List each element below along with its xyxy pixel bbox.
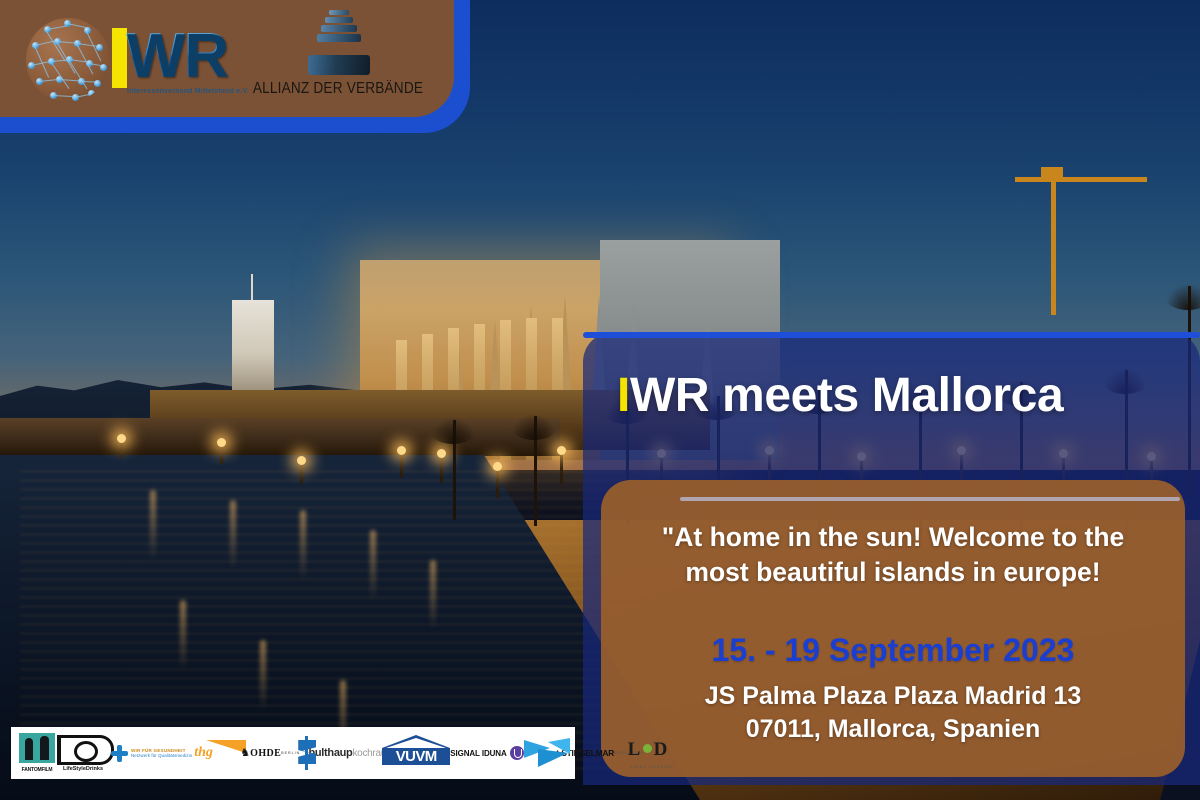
- street-lamp: [300, 462, 303, 484]
- allianz-logo-text: ALLIANZ DER VERBÄNDE: [250, 80, 426, 98]
- reflection-streak: [260, 640, 266, 710]
- reflection-streak: [150, 490, 156, 560]
- iwr-logo[interactable]: WR Interessenverband Mittelstand e.V.: [26, 14, 206, 106]
- sponsor-bulthaup[interactable]: bulthaup kochraum: [320, 731, 382, 775]
- vuvm-label: VUVM: [382, 748, 450, 765]
- page-title: IWR meets Mallorca: [583, 368, 1200, 423]
- sponsor-vuvm[interactable]: VUVM: [382, 735, 450, 771]
- event-details-card: "At home in the sun! Welcome to the most…: [601, 480, 1185, 777]
- reflection-streak: [370, 530, 376, 600]
- event-venue: JS Palma Plaza Plaza Madrid 13 07011, Ma…: [625, 680, 1161, 745]
- ld-letter-left: L: [628, 740, 641, 759]
- tagline-line-1: "At home in the sun! Welcome to the: [625, 520, 1161, 555]
- sponsor-s-mark[interactable]: [294, 736, 320, 770]
- street-lamp: [400, 452, 403, 478]
- ld-letter-right: D: [654, 740, 668, 759]
- street-lamp: [496, 468, 499, 498]
- reflection-streak: [430, 560, 436, 630]
- signal-iduna-globe-icon: [510, 746, 524, 760]
- headline-text: WR meets Mallorca: [630, 369, 1063, 422]
- tagline-line-2: most beautiful islands in europe!: [625, 555, 1161, 590]
- reflection-streak: [300, 510, 306, 580]
- street-lamp: [220, 444, 223, 464]
- venue-line-2: 07011, Mallorca, Spanien: [625, 713, 1161, 746]
- allianz-der-verbaende-logo[interactable]: ALLIANZ DER VERBÄNDE: [238, 10, 438, 110]
- network-sphere-icon: [26, 18, 110, 102]
- venue-line-1: JS Palma Plaza Plaza Madrid 13: [625, 680, 1161, 713]
- blue-bird-wing-lower: [538, 749, 568, 767]
- iwr-wordmark: WR: [126, 20, 227, 91]
- s-zigzag-body: [298, 740, 316, 764]
- thg-label: thg: [194, 745, 213, 761]
- header-brown-panel: WR Interessenverband Mittelstand e.V. AL…: [0, 0, 454, 117]
- embankment: [0, 418, 560, 456]
- fantomfilm-label: FANTOMFILM: [19, 767, 55, 773]
- wfg-sublabel: Netzwerk für Qualitätsmedizin: [131, 753, 192, 758]
- blue-cross-icon: [111, 745, 128, 762]
- signal-iduna-label: SIGNAL IDUNA: [450, 749, 506, 758]
- street-lamp: [120, 440, 123, 458]
- header-bar: WR Interessenverband Mittelstand e.V. AL…: [0, 0, 470, 133]
- hero-panel-top-rule: [583, 332, 1200, 338]
- ohde-horse-icon: ♞: [240, 748, 250, 759]
- iwr-subtitle: Interessenverband Mittelstand e.V.: [127, 88, 249, 95]
- ld-catering-logo: [643, 744, 652, 753]
- card-top-rule: [680, 497, 1180, 501]
- lifestyledrinks-label: LifeStyleDrinks: [55, 766, 111, 772]
- event-date: 15. - 19 September 2023: [625, 632, 1161, 669]
- reflection-streak: [180, 600, 186, 670]
- headline-accent-letter: I: [617, 369, 630, 422]
- fantomfilm-logo: [19, 733, 55, 763]
- ohde-label: OHDE: [250, 748, 281, 759]
- stacked-tower-icon: [306, 10, 372, 78]
- sponsor-stiegelmar[interactable]: ⛰ STIEGELMAR BURGENLAND: [572, 731, 626, 775]
- palm-tree: [510, 416, 558, 526]
- event-tagline: "At home in the sun! Welcome to the most…: [625, 520, 1161, 590]
- ld-sublabel: EVENT CATERING: [626, 765, 678, 769]
- sponsor-logo-strip: FANTOMFILM LifeStyleDrinks WIR FÜR GESUN…: [11, 727, 575, 779]
- sponsor-wir-fuer-gesundheit[interactable]: WIR FÜR GESUNDHEIT Netzwerk für Qualität…: [111, 731, 192, 775]
- sponsor-ohde[interactable]: ♞ OHDE BERLIN: [246, 731, 294, 775]
- sponsor-ld-catering[interactable]: L D EVENT CATERING: [626, 736, 678, 770]
- palm-tree: [430, 420, 476, 520]
- vuvm-roof-inner: [386, 738, 446, 748]
- sponsor-thg[interactable]: thg: [192, 738, 246, 768]
- lsd-monogram-logo: [57, 735, 114, 765]
- sponsor-fantomfilm[interactable]: FANTOMFILM: [19, 733, 55, 773]
- street-lamp: [560, 452, 563, 484]
- poster-root: WR Interessenverband Mittelstand e.V. AL…: [0, 0, 1200, 800]
- construction-crane: [1015, 165, 1155, 315]
- sponsor-blue-bird[interactable]: [524, 738, 572, 768]
- iwr-accent-bar: [112, 28, 127, 88]
- sponsor-signal-iduna[interactable]: SIGNAL IDUNA: [450, 731, 523, 775]
- sponsor-lifestyledrinks[interactable]: LifeStyleDrinks: [55, 733, 111, 773]
- almudaina-tower: [232, 300, 274, 392]
- reflection-streak: [230, 500, 236, 570]
